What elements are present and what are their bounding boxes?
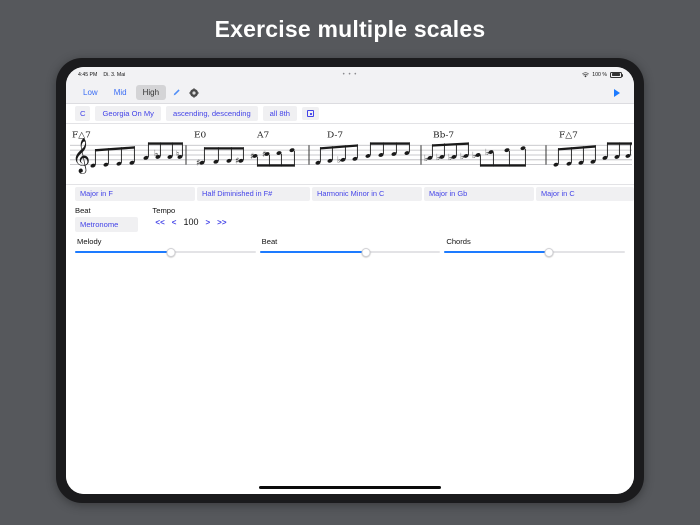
tempo-step-back-button[interactable]: < — [172, 218, 177, 227]
metronome-select[interactable]: Metronome — [75, 217, 138, 232]
tablet-device-frame: 4:45 PM Di. 3. Mai • • • 100 % — [56, 58, 644, 503]
status-date: Di. 3. Mai — [103, 72, 125, 78]
chord-symbol: F△7 — [559, 131, 578, 141]
scale-label-5[interactable]: Major in C — [536, 187, 634, 201]
grid-glyph — [307, 110, 314, 117]
segment-high[interactable]: High — [136, 85, 166, 100]
scale-label-1[interactable]: Major in F — [75, 187, 195, 201]
scale-label-3[interactable]: Harmonic Minor in C — [312, 187, 422, 201]
gear-icon[interactable] — [186, 85, 202, 101]
chords-slider-thumb[interactable] — [545, 248, 554, 257]
beat-slider-thumb[interactable] — [362, 248, 371, 257]
tempo-fast-back-button[interactable]: << — [155, 218, 164, 227]
svg-text:♭: ♭ — [448, 153, 452, 163]
scale-label-4[interactable]: Major in Gb — [424, 187, 534, 201]
chords-slider-track[interactable] — [444, 251, 625, 253]
svg-text:♯: ♯ — [262, 150, 266, 160]
svg-text:♭: ♭ — [337, 156, 341, 166]
status-time: 4:45 PM — [78, 72, 97, 78]
svg-text:♯: ♯ — [196, 159, 200, 169]
grid-options-icon[interactable] — [302, 107, 319, 120]
chord-symbol: Bb-7 — [433, 131, 454, 141]
melody-slider-thumb[interactable] — [166, 248, 175, 257]
svg-text:♭: ♭ — [460, 152, 464, 162]
svg-text:♭: ♭ — [424, 154, 428, 164]
status-bar: 4:45 PM Di. 3. Mai • • • 100 % — [66, 67, 634, 82]
chip-direction[interactable]: ascending, descending — [166, 106, 258, 121]
beat-slider-label: Beat — [262, 237, 278, 246]
battery-icon — [610, 72, 622, 78]
melody-slider[interactable]: Melody — [75, 237, 256, 259]
tablet-screen: 4:45 PM Di. 3. Mai • • • 100 % — [66, 67, 634, 494]
melody-slider-track[interactable] — [75, 251, 256, 253]
tempo-stepper: << < 100 > >> — [152, 217, 226, 227]
tempo-fast-forward-button[interactable]: >> — [217, 218, 226, 227]
chord-symbol: F△7 — [72, 131, 91, 141]
melody-slider-fill — [75, 251, 171, 253]
tempo-label: Tempo — [152, 206, 226, 215]
page-title: Exercise multiple scales — [0, 0, 700, 58]
scale-label-2[interactable]: Half Diminished in F# — [197, 187, 310, 201]
home-indicator[interactable] — [259, 486, 441, 489]
play-icon[interactable] — [610, 86, 624, 100]
chip-song[interactable]: Georgia On My — [95, 106, 161, 121]
status-bar-left: 4:45 PM Di. 3. Mai — [78, 72, 125, 78]
svg-text:♭: ♭ — [472, 151, 476, 161]
chords-slider-label: Chords — [446, 237, 470, 246]
beat-control-group: Beat Metronome — [75, 206, 138, 232]
app-toolbar: Low Mid High — [66, 82, 634, 104]
selection-chip-row: C Georgia On My ascending, descending al… — [66, 104, 634, 123]
chip-key[interactable]: C — [75, 106, 90, 121]
battery-fill — [612, 73, 621, 76]
music-score[interactable]: 𝄞 — [66, 123, 634, 185]
beat-slider-fill — [260, 251, 367, 253]
beat-slider[interactable]: Beat — [260, 237, 441, 259]
battery-percent-label: 100 % — [592, 72, 607, 78]
svg-text:♭: ♭ — [436, 153, 440, 163]
tempo-step-forward-button[interactable]: > — [205, 218, 210, 227]
wifi-icon — [582, 72, 589, 78]
melody-slider-label: Melody — [77, 237, 101, 246]
content-area — [66, 261, 634, 494]
chords-slider-fill — [444, 251, 549, 253]
chord-symbol: E0 — [194, 131, 207, 141]
svg-text:♯: ♯ — [250, 152, 254, 162]
play-triangle — [614, 89, 620, 97]
svg-text:♯: ♯ — [235, 157, 239, 167]
chip-rhythm[interactable]: all 8th — [263, 106, 297, 121]
segment-mid[interactable]: Mid — [107, 85, 134, 100]
volume-slider-row: Melody Beat Chords — [66, 235, 634, 261]
chords-slider[interactable]: Chords — [444, 237, 625, 259]
pencil-icon[interactable] — [168, 85, 184, 101]
beat-slider-track[interactable] — [260, 251, 441, 253]
tempo-value[interactable]: 100 — [183, 217, 198, 227]
multitasking-handle[interactable]: • • • — [343, 72, 358, 78]
beat-label: Beat — [75, 206, 138, 215]
scale-label-row: Major in F Half Diminished in F# Harmoni… — [66, 185, 634, 203]
tempo-control-group: Tempo << < 100 > >> — [152, 206, 226, 227]
status-bar-right: 100 % — [582, 72, 622, 78]
svg-text:𝄞: 𝄞 — [72, 138, 90, 174]
svg-text:♭: ♭ — [154, 149, 158, 159]
staff-svg: 𝄞 — [66, 124, 634, 184]
segment-low[interactable]: Low — [76, 85, 105, 100]
svg-text:♭: ♭ — [485, 148, 489, 158]
playback-controls: Beat Metronome Tempo << < 100 > >> — [66, 203, 634, 235]
chord-symbol: D-7 — [327, 131, 343, 141]
chord-symbol: A7 — [256, 131, 269, 141]
svg-text:♮: ♮ — [176, 150, 179, 160]
